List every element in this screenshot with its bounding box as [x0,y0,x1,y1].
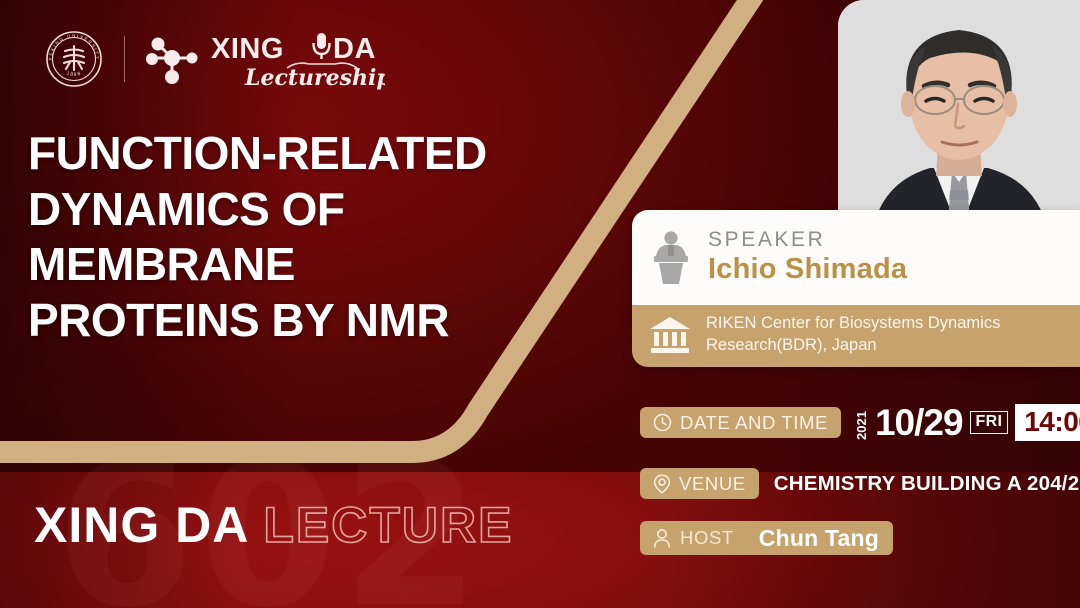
xingda-lectureship-logo: XING DA Lectureship [145,28,385,90]
brand-solid-text: XING DA [34,500,249,550]
brand-outline-text: LECTURE [263,500,513,550]
host-label: HOST [680,527,734,549]
svg-text:1898: 1898 [66,71,83,79]
date-weekday: FRI [970,411,1009,434]
venue-pill: VENUE [640,468,759,499]
speaker-affiliation: RIKEN Center for Biosystems Dynamics Res… [706,313,1036,357]
clock-icon [653,413,672,432]
host-pill: HOST Chun Tang [640,521,893,555]
date-month-day: 10/29 [875,404,963,441]
date-time-pill: DATE AND TIME [640,407,841,438]
speaker-name: Ichio Shimada [708,253,907,286]
venue-value: CHEMISTRY BUILDING A 204/206 [774,472,1080,496]
host-name: Chun Tang [759,525,879,552]
page-title: FUNCTION-RELATED DYNAMICS OF MEMBRANE PR… [28,126,628,349]
logo-divider [124,36,125,82]
xingda-wordmark: XING DA Lectureship [209,28,385,90]
title-line-4: PROTEINS BY NMR [28,293,628,349]
title-line-3: MEMBRANE [28,237,628,293]
title-line-2: DYNAMICS OF [28,182,628,238]
speaker-card: SPEAKER Ichio Shimada RIKEN Center for B… [632,210,1080,367]
speaker-label: SPEAKER [708,228,907,252]
podium-speaker-icon [648,230,694,286]
header-logos: PEKING UNIVERSITY 1898 [44,28,385,90]
venue-row: VENUE CHEMISTRY BUILDING A 204/206 [640,468,1080,499]
microphone-icon [314,33,330,59]
event-time: 14:00 [1015,404,1080,441]
speaker-card-top: SPEAKER Ichio Shimada [632,210,1080,305]
speaker-card-bottom: RIKEN Center for Biosystems Dynamics Res… [632,305,1080,367]
molecule-icon [145,31,203,87]
location-pin-icon [653,474,671,494]
svg-text:DA: DA [333,33,376,65]
peking-university-seal-icon: PEKING UNIVERSITY 1898 [44,29,104,89]
date-time-row: DATE AND TIME 2021 10/29 FRI 14:00 [640,404,1080,441]
series-brand: XING DA LECTURE [34,500,513,550]
date-year: 2021 [855,406,868,440]
person-icon [653,528,671,548]
venue-label: VENUE [679,473,746,495]
date-time-label: DATE AND TIME [680,412,828,434]
speaker-text-block: SPEAKER Ichio Shimada [708,228,907,286]
title-line-1: FUNCTION-RELATED [28,126,628,182]
svg-text:XING: XING [211,33,284,65]
speaker-photo [838,0,1080,232]
lecture-poster: 602 [0,0,1080,608]
institution-building-icon [648,315,692,355]
svg-text:Lectureship: Lectureship [244,65,385,90]
date-values: 2021 10/29 FRI 14:00 [855,404,1080,441]
host-row: HOST Chun Tang [640,521,893,555]
